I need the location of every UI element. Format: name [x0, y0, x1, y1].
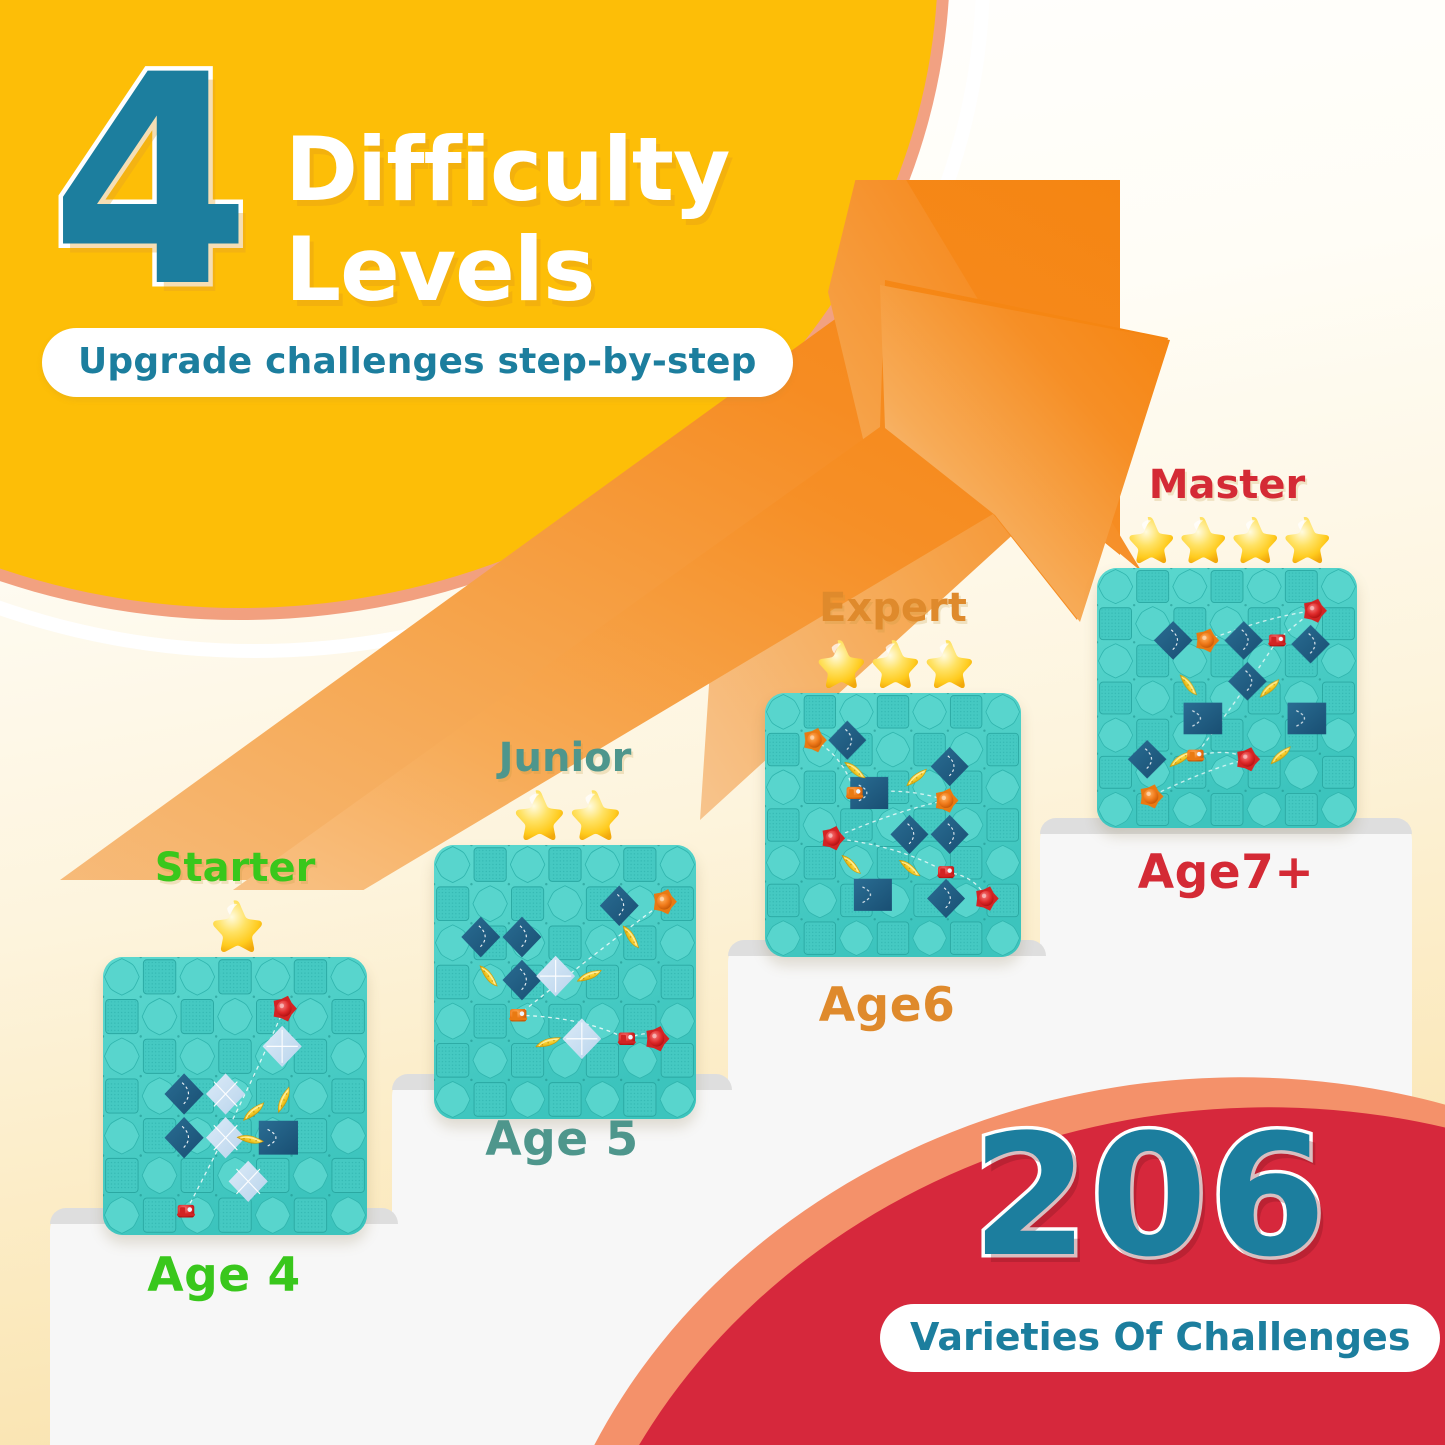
step-platform-1 — [50, 1208, 398, 1445]
star-icon — [207, 897, 263, 953]
headline-number: 4 — [50, 38, 252, 328]
star-icon — [1176, 514, 1226, 564]
puzzle-board-icon-starter — [103, 957, 367, 1235]
board-graphic — [434, 845, 696, 1119]
headline-subtitle-pill: Upgrade challenges step-by-step — [42, 328, 793, 397]
level-name-starter: Starter — [90, 845, 380, 891]
board-graphic — [1097, 568, 1357, 828]
board-graphic — [103, 957, 367, 1235]
puzzle-board-icon-expert — [765, 693, 1021, 957]
star-icon — [510, 787, 564, 841]
headline-line-2: Levels — [285, 220, 729, 320]
star-icon — [921, 637, 973, 689]
star-rating-starter — [90, 897, 380, 953]
headline-lines: Difficulty Levels — [285, 120, 729, 320]
star-icon — [1228, 514, 1278, 564]
step-label-age-6: Age6 — [728, 978, 1046, 1033]
star-rating-master — [1082, 514, 1372, 564]
star-icon — [1280, 514, 1330, 564]
banner-caption-pill: Varieties Of Challenges — [880, 1304, 1440, 1372]
star-icon — [566, 787, 620, 841]
infographic-canvas: 4 Difficulty Levels Upgrade challenges s… — [0, 0, 1445, 1445]
puzzle-board-icon-master — [1097, 568, 1357, 828]
level-group-expert: Expert — [748, 585, 1038, 957]
headline-line-1: Difficulty — [285, 120, 729, 220]
star-rating-junior — [420, 787, 710, 841]
level-name-junior: Junior — [420, 735, 710, 781]
step-label-age-4: Age 4 — [50, 1248, 398, 1303]
banner-content: 206 Varieties Of Challenges — [880, 1112, 1420, 1372]
star-icon — [1124, 514, 1174, 564]
banner-number: 206 — [880, 1112, 1420, 1280]
step-label-age-7plus: Age7+ — [1040, 845, 1412, 900]
level-group-master: Master — [1082, 462, 1372, 828]
level-group-starter: Starter — [90, 845, 380, 1235]
level-name-expert: Expert — [748, 585, 1038, 631]
puzzle-board-icon-junior — [434, 845, 696, 1119]
star-icon — [813, 637, 865, 689]
star-icon — [867, 637, 919, 689]
board-graphic — [765, 693, 1021, 957]
star-rating-expert — [748, 637, 1038, 689]
level-group-junior: Junior — [420, 735, 710, 1119]
step-label-age-5: Age 5 — [392, 1112, 732, 1167]
level-name-master: Master — [1082, 462, 1372, 508]
